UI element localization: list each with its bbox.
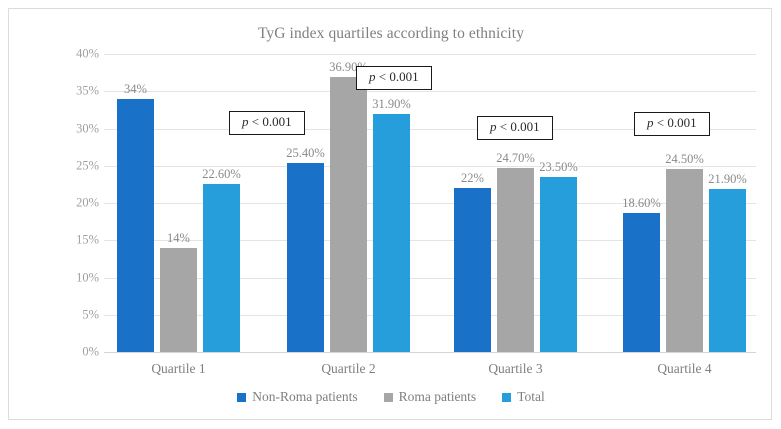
p-value-symbol: p bbox=[369, 69, 376, 84]
bar[interactable] bbox=[709, 189, 746, 352]
bar[interactable] bbox=[454, 188, 491, 352]
y-axis-tick-label: 0% bbox=[39, 345, 99, 360]
bar-group: 25.40%36.90%31.90% bbox=[287, 54, 410, 352]
gridline bbox=[104, 352, 756, 353]
x-axis-category-label: Quartile 1 bbox=[99, 361, 259, 377]
legend-label: Roma patients bbox=[399, 389, 477, 405]
legend-swatch-icon bbox=[502, 393, 511, 402]
bar-value-label: 23.50% bbox=[514, 160, 604, 175]
bar[interactable] bbox=[540, 177, 577, 352]
chart-legend: Non-Roma patientsRoma patientsTotal bbox=[9, 389, 773, 405]
legend-label: Total bbox=[517, 389, 545, 405]
legend-swatch-icon bbox=[384, 393, 393, 402]
p-value-annotation: p < 0.001 bbox=[634, 112, 710, 136]
y-axis-tick-label: 30% bbox=[39, 121, 99, 136]
legend-swatch-icon bbox=[237, 393, 246, 402]
bar[interactable] bbox=[330, 77, 367, 352]
p-value-symbol: p bbox=[242, 114, 249, 129]
bar[interactable] bbox=[287, 163, 324, 352]
bar-value-label: 24.50% bbox=[640, 152, 730, 167]
bar-group: 34%14%22.60% bbox=[117, 54, 240, 352]
bar[interactable] bbox=[160, 248, 197, 352]
bar-value-label: 34% bbox=[91, 82, 181, 97]
chart-title: TyG index quartiles according to ethnici… bbox=[9, 25, 773, 43]
y-axis-tick-label: 10% bbox=[39, 270, 99, 285]
bar[interactable] bbox=[373, 114, 410, 352]
y-axis-tick-label: 20% bbox=[39, 196, 99, 211]
p-value-annotation: p < 0.001 bbox=[356, 66, 432, 90]
legend-item[interactable]: Roma patients bbox=[384, 389, 477, 405]
x-axis-category-label: Quartile 3 bbox=[436, 361, 596, 377]
bar-group: 22%24.70%23.50% bbox=[454, 54, 577, 352]
bar-value-label: 31.90% bbox=[347, 97, 437, 112]
y-axis-tick-label: 25% bbox=[39, 158, 99, 173]
bar-value-label: 21.90% bbox=[683, 172, 773, 187]
plot-area: 34%14%22.60%25.40%36.90%31.90%22%24.70%2… bbox=[104, 54, 756, 352]
legend-item[interactable]: Total bbox=[502, 389, 545, 405]
y-axis-tick-label: 5% bbox=[39, 307, 99, 322]
chart-container: TyG index quartiles according to ethnici… bbox=[8, 8, 772, 420]
x-axis-category-label: Quartile 2 bbox=[269, 361, 429, 377]
bar[interactable] bbox=[497, 168, 534, 352]
y-axis-tick-label: 15% bbox=[39, 233, 99, 248]
y-axis: 40%35%30%25%20%15%10%5%0% bbox=[31, 54, 99, 352]
x-axis-labels: Quartile 1Quartile 2Quartile 3Quartile 4 bbox=[104, 361, 756, 383]
p-value-annotation: p < 0.001 bbox=[477, 116, 553, 140]
x-axis-category-label: Quartile 4 bbox=[605, 361, 765, 377]
bar-value-label: 22.60% bbox=[177, 167, 267, 182]
y-axis-tick-label: 40% bbox=[39, 47, 99, 62]
p-value-symbol: p bbox=[490, 119, 497, 134]
p-value-symbol: p bbox=[647, 115, 654, 130]
p-value-annotation: p < 0.001 bbox=[229, 111, 305, 135]
bar-group: 18.60%24.50%21.90% bbox=[623, 54, 746, 352]
bar[interactable] bbox=[623, 213, 660, 352]
bar[interactable] bbox=[666, 169, 703, 352]
bar[interactable] bbox=[117, 99, 154, 352]
legend-label: Non-Roma patients bbox=[252, 389, 357, 405]
legend-item[interactable]: Non-Roma patients bbox=[237, 389, 357, 405]
bar[interactable] bbox=[203, 184, 240, 352]
